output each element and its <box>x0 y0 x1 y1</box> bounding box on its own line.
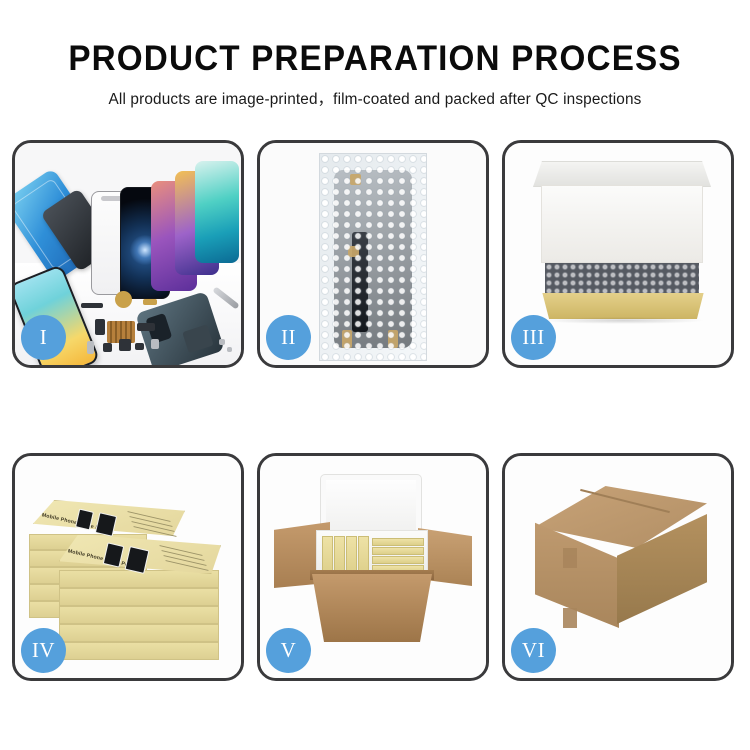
speaker-component <box>115 291 132 308</box>
bubble-wrap-bag <box>319 153 427 361</box>
connector-gold <box>143 299 157 305</box>
step-badge-2: II <box>266 315 311 360</box>
header: PRODUCT PREPARATION PROCESS All products… <box>0 38 750 109</box>
phone-screen-cyan <box>195 161 239 263</box>
grey-bubble-wrap-contents <box>545 263 699 295</box>
screw-2 <box>227 347 232 352</box>
step-badge-4: IV <box>21 628 66 673</box>
step-badge-5: V <box>266 628 311 673</box>
button-component <box>151 339 159 349</box>
step-panel-1: I <box>12 140 244 368</box>
process-step-grid: I II <box>12 140 738 681</box>
product-preparation-infographic: PRODUCT PREPARATION PROCESS All products… <box>0 0 750 750</box>
carton-body <box>312 574 432 642</box>
foam-sheet <box>541 185 703 263</box>
step-panel-6: VI <box>502 453 734 681</box>
sim-tray <box>87 341 94 354</box>
stacked-box-f3 <box>59 606 219 624</box>
packed-box-7 <box>372 556 424 564</box>
small-ic-chip <box>135 343 144 350</box>
stacked-box-f5 <box>59 642 219 660</box>
page-title: PRODUCT PREPARATION PROCESS <box>19 38 732 80</box>
screw-1 <box>219 339 225 345</box>
stacked-box-f4 <box>59 624 219 642</box>
step-panel-2: II <box>257 140 489 368</box>
step-badge-3: III <box>511 315 556 360</box>
speaker-mesh <box>119 339 131 351</box>
page-subtitle: All products are image-printed，film-coat… <box>4 87 747 109</box>
flex-cable-1 <box>81 303 103 308</box>
step-panel-5: V <box>257 453 489 681</box>
step-panel-3: III <box>502 140 734 368</box>
vibrator-motor <box>103 343 112 352</box>
box-shadow <box>541 317 705 324</box>
carton-tape-lower <box>563 608 577 628</box>
camera-module <box>95 319 105 335</box>
packed-box-6 <box>372 547 424 555</box>
stacked-box-f2 <box>59 588 219 606</box>
step-panel-4: Mobile Phone Spare Parts <box>12 453 244 681</box>
packed-box-5 <box>372 538 424 546</box>
flex-cable-2 <box>137 323 155 331</box>
box-lid-foam <box>533 161 711 187</box>
box-front-panel <box>539 293 707 319</box>
carton-tape-upper <box>563 548 577 568</box>
step-badge-6: VI <box>511 628 556 673</box>
step-badge-1: I <box>21 315 66 360</box>
